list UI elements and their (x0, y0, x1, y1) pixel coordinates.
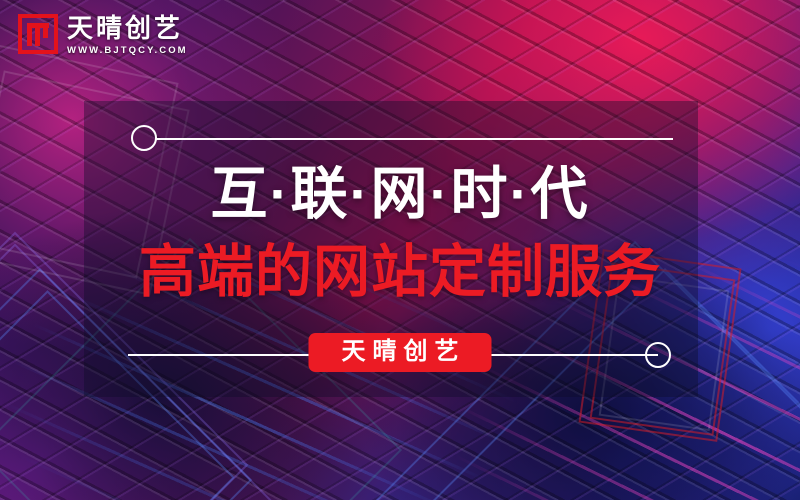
brand-logo[interactable]: 天晴创艺 WWW.BJTQCY.COM (18, 14, 188, 56)
tianqing-logo-mark-icon (18, 14, 58, 54)
brand-website: WWW.BJTQCY.COM (67, 45, 188, 56)
promo-banner: 天晴创艺 WWW.BJTQCY.COM 互·联·网·时·代 高端的网站定制服务 … (0, 0, 800, 500)
divider-top (155, 138, 673, 140)
brand-logo-text: 天晴创艺 WWW.BJTQCY.COM (67, 14, 188, 56)
circle-outline-icon-bottom (645, 342, 671, 368)
page-title: 互·联·网·时·代 (0, 166, 800, 223)
circle-outline-icon-top (131, 125, 157, 151)
headline-group: 互·联·网·时·代 高端的网站定制服务 天晴创艺 (0, 0, 800, 500)
page-subtitle: 高端的网站定制服务 (0, 244, 800, 301)
brand-badge: 天晴创艺 (309, 333, 492, 372)
brand-name: 天晴创艺 (67, 15, 188, 42)
